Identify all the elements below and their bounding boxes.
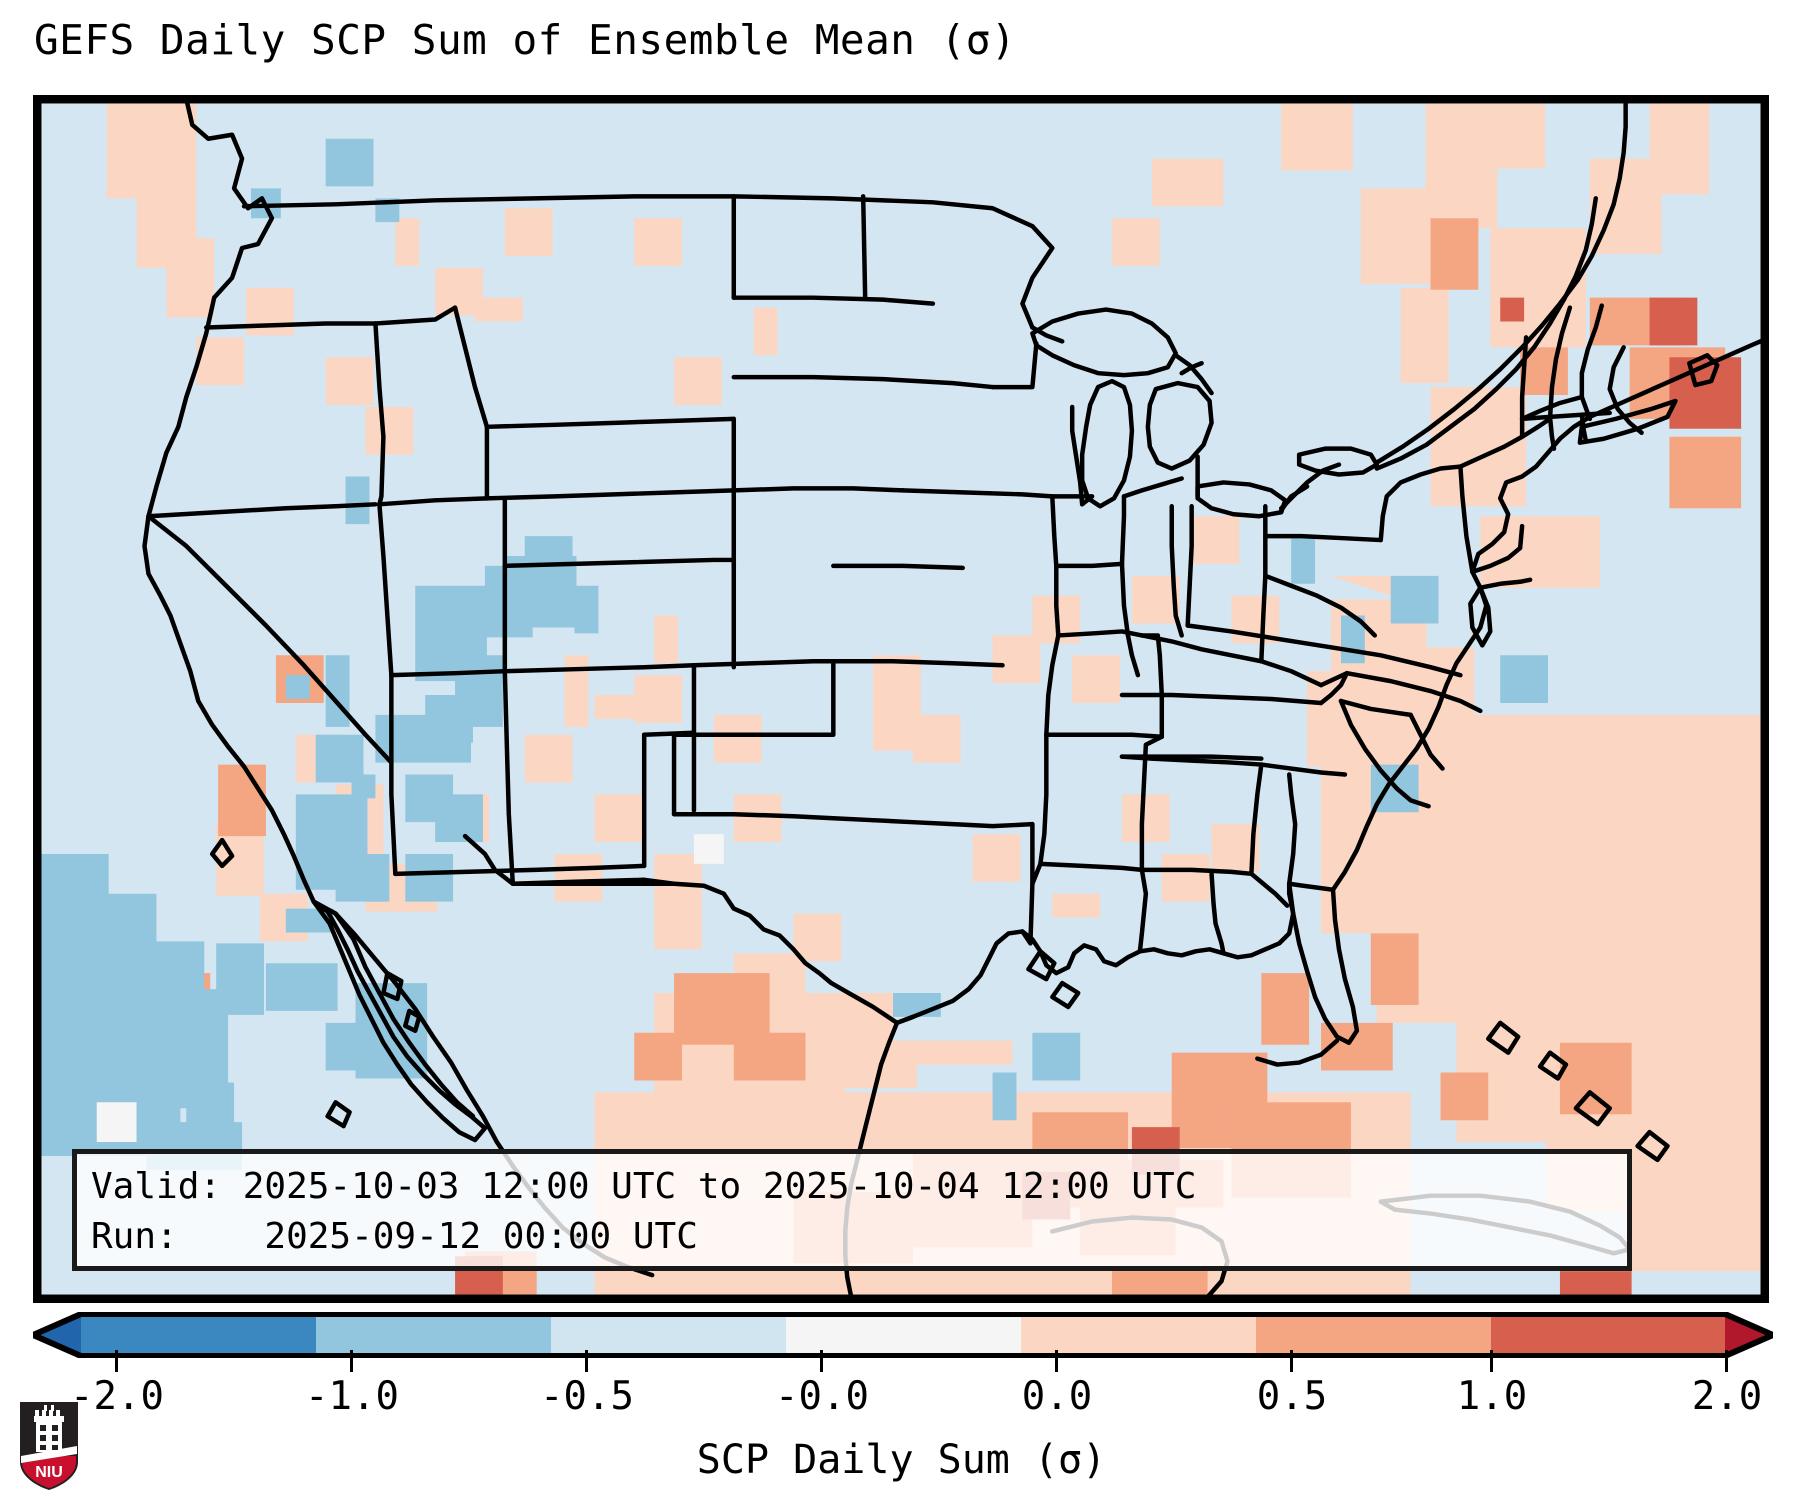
colorbar-tick-mark-0	[115, 1350, 118, 1372]
colorbar-tick-mark-4	[1055, 1350, 1058, 1372]
niu-logo-text: NIU	[35, 1464, 63, 1481]
figure-root: GEFS Daily SCP Sum of Ensemble Mean (σ)	[0, 0, 1803, 1506]
niu-logo: NIU	[18, 1400, 80, 1492]
colorbar-tick-label-1: -1.0	[305, 1374, 399, 1419]
niu-tower-icon	[34, 1405, 64, 1452]
page-title: GEFS Daily SCP Sum of Ensemble Mean (σ)	[34, 16, 1016, 64]
colorbar-tick-label-7: 2.0	[1692, 1374, 1762, 1419]
info-valid-line: Valid: 2025-10-03 12:00 UTC to 2025-10-0…	[91, 1162, 1613, 1212]
info-run-line: Run: 2025-09-12 00:00 UTC	[91, 1212, 1613, 1262]
scp-anomaly-heatmap	[37, 99, 1765, 1299]
colorbar-tick-mark-3	[820, 1350, 823, 1372]
colorbar-tick-label-2: -0.5	[540, 1374, 634, 1419]
colorbar-axis-label: SCP Daily Sum (σ)	[0, 1437, 1803, 1483]
colorbar-ticks: -2.0 -1.0 -0.5 -0.0 0.0 0.5 1.0 2.0	[33, 1350, 1773, 1410]
info-box: Valid: 2025-10-03 12:00 UTC to 2025-10-0…	[72, 1149, 1632, 1271]
colorbar-tick-mark-5	[1290, 1350, 1293, 1372]
colorbar-tick-mark-2	[585, 1350, 588, 1372]
colorbar-tick-mark-6	[1490, 1350, 1493, 1372]
colorbar-tick-mark-7	[1725, 1350, 1728, 1372]
colorbar-tick-label-5: 0.5	[1257, 1374, 1327, 1419]
colorbar-tick-label-0: -2.0	[70, 1374, 164, 1419]
colorbar-tick-label-6: 1.0	[1457, 1374, 1527, 1419]
colorbar-tick-mark-1	[350, 1350, 353, 1372]
colorbar-tick-label-4: 0.0	[1022, 1374, 1092, 1419]
map-panel: Valid: 2025-10-03 12:00 UTC to 2025-10-0…	[33, 95, 1769, 1303]
colorbar-tick-label-3: -0.0	[775, 1374, 869, 1419]
